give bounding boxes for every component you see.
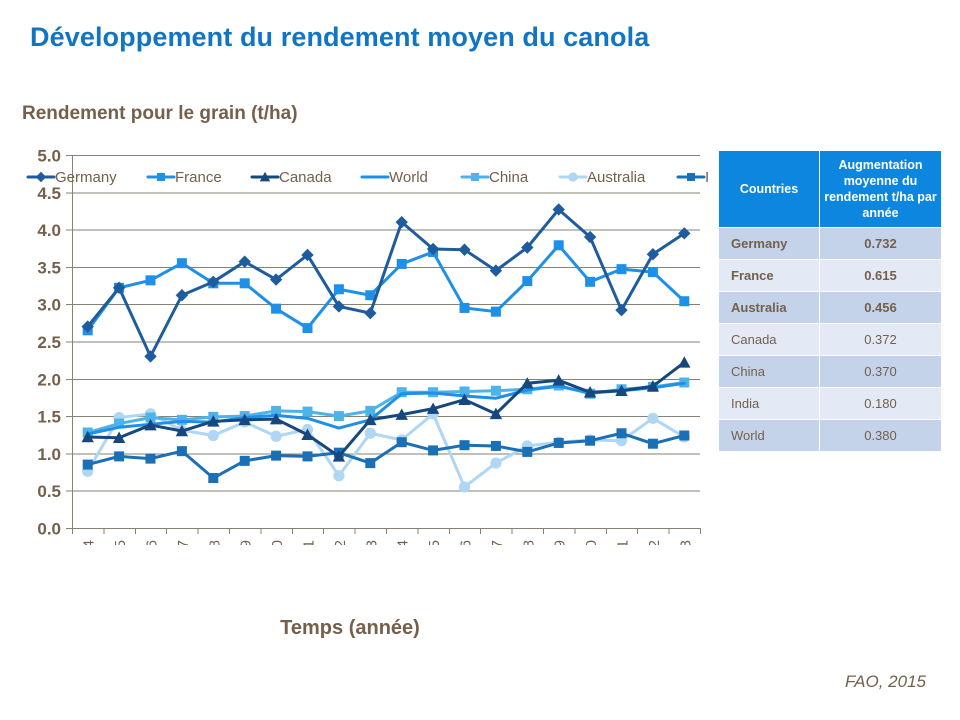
legend-label: Australia [587,169,646,186]
legend-item-india[interactable]: India [678,169,710,186]
data-point [303,323,313,333]
x-tick-label: 2009 [552,540,569,545]
y-tick-label: 3.5 [37,258,61,277]
data-point [460,440,470,450]
x-tick-label: 2010 [583,540,600,545]
data-point [648,439,658,449]
data-series-group [82,203,691,492]
series-canada [82,356,691,461]
data-point [522,447,532,457]
data-point [460,303,470,313]
data-point [271,304,281,314]
data-point [617,264,627,274]
data-point [647,413,658,424]
data-point [177,258,187,268]
data-point [271,451,281,461]
gridlines [66,155,700,529]
stats-table: Countries Augmentation moyenne du rendem… [718,150,942,452]
x-tick-label: 1998 [206,540,223,545]
data-point [522,276,532,286]
chart-plot-area: 0.00.51.01.52.02.53.03.54.04.55.0 199419… [0,145,710,545]
table-cell-value: 0.372 [820,324,942,356]
x-tick-label: 2008 [520,540,537,545]
x-tick-label: 2001 [301,540,318,545]
data-point [554,240,564,250]
data-point [491,386,501,396]
x-tick-label: 2007 [489,540,506,545]
data-point [428,445,438,455]
legend-marker [471,173,479,181]
data-point [365,428,376,439]
table-cell-value: 0.456 [820,292,942,324]
legend-item-france[interactable]: France [148,169,222,186]
legend-item-canada[interactable]: Canada [252,169,332,186]
x-tick-label: 2006 [458,540,475,545]
y-tick-label: 0.0 [37,520,61,539]
data-point [240,456,250,466]
y-tick-label: 2.0 [37,370,61,389]
table-cell-value: 0.180 [820,388,942,420]
y-tick-label: 3.0 [37,296,61,315]
legend-marker [36,172,46,182]
x-tick-label: 2013 [677,540,694,545]
x-tick-label: 2000 [269,540,286,545]
table-header-increase: Augmentation moyenne du rendement t/ha p… [820,151,942,228]
legend-label: India [705,169,710,186]
table-cell-country: France [719,260,820,292]
x-tick-label: 2005 [426,540,443,545]
table-cell-country: World [719,420,820,452]
data-point [491,441,501,451]
x-tick-label: 2002 [332,540,349,545]
x-tick-label: 2011 [615,540,632,545]
table-row: India0.180 [719,388,942,420]
data-point [459,481,470,492]
table-cell-country: Canada [719,324,820,356]
data-point [271,431,282,442]
x-tick-label: 1999 [238,540,255,545]
x-tick-label: 1995 [112,540,129,545]
data-point [146,454,156,464]
x-axis-title: Temps (année) [0,617,700,640]
y-tick-label: 2.5 [37,333,61,352]
y-tick-label: 4.0 [37,221,61,240]
legend-label: World [389,169,428,186]
data-point [397,437,407,447]
table-row: France0.615 [719,260,942,292]
y-axis-ticks: 0.00.51.01.52.02.53.03.54.04.55.0 [37,147,61,539]
series-germany [82,203,691,362]
table-header: Countries Augmentation moyenne du rendem… [719,151,942,228]
data-point [240,278,250,288]
data-point [678,356,690,367]
page-title: Développement du rendement moyen du cano… [30,22,649,53]
data-point [303,407,313,417]
data-point [146,275,156,285]
data-point [615,304,627,316]
table-cell-value: 0.380 [820,420,942,452]
chart-legend: GermanyFranceCanadaWorldChinaAustraliaIn… [28,169,710,186]
y-tick-label: 5.0 [37,147,61,166]
data-point [334,411,344,421]
data-point [648,267,658,277]
legend-item-world[interactable]: World [362,169,428,186]
x-tick-label: 2012 [646,540,663,545]
table-row: China0.370 [719,356,942,388]
table-cell-country: China [719,356,820,388]
data-point [333,470,344,481]
x-tick-label: 1994 [81,540,98,545]
data-point [114,451,124,461]
data-point [617,428,627,438]
data-point [397,259,407,269]
table-cell-value: 0.615 [820,260,942,292]
table-cell-country: Australia [719,292,820,324]
y-tick-label: 1.5 [37,408,61,427]
line-chart: 0.00.51.01.52.02.53.03.54.04.55.0 199419… [0,145,710,545]
data-point [303,451,313,461]
data-point [208,473,218,483]
y-tick-label: 0.5 [37,482,61,501]
source-note: FAO, 2015 [845,672,926,692]
x-tick-label: 2004 [395,540,412,545]
table-row: World0.380 [719,420,942,452]
table-cell-country: India [719,388,820,420]
x-tick-label: 1997 [175,540,192,545]
legend-label: China [489,169,529,186]
data-point [334,284,344,294]
data-point [490,457,501,468]
legend-marker [157,173,165,181]
data-point [679,430,689,440]
data-point [364,307,376,319]
data-point [585,277,595,287]
data-point [554,438,564,448]
x-tick-label: 2003 [363,540,380,545]
table-cell-country: Germany [719,228,820,260]
legend-item-china[interactable]: China [462,169,529,186]
legend-label: Canada [279,169,332,186]
table-row: Australia0.456 [719,292,942,324]
data-point [365,458,375,468]
table-body: Germany0.732France0.615Australia0.456Can… [719,228,942,452]
table-cell-value: 0.732 [820,228,942,260]
legend-label: France [175,169,222,186]
legend-item-australia[interactable]: Australia [560,169,646,186]
y-tick-label: 1.0 [37,445,61,464]
y-axis-title: Rendement pour le grain (t/ha) [22,103,298,125]
data-point [83,460,93,470]
legend-label: Germany [55,169,117,186]
slide-canvas: Développement du rendement moyen du cano… [0,0,960,720]
legend-marker [687,173,695,181]
table-header-countries: Countries [719,151,820,228]
data-point [585,436,595,446]
data-point [491,307,501,317]
table-row: Germany0.732 [719,228,942,260]
table-header-row: Countries Augmentation moyenne du rendem… [719,151,942,228]
y-tick-label: 4.5 [37,184,61,203]
table-row: Canada0.372 [719,324,942,356]
x-tick-label: 1996 [144,540,161,545]
data-point [144,350,156,362]
data-point [177,446,187,456]
x-axis-ticks: 1994199519961997199819992000200120022003… [73,528,701,545]
data-point [679,296,689,306]
data-point [208,430,219,441]
table-cell-value: 0.370 [820,356,942,388]
legend-marker [568,172,577,181]
data-point [176,289,188,301]
